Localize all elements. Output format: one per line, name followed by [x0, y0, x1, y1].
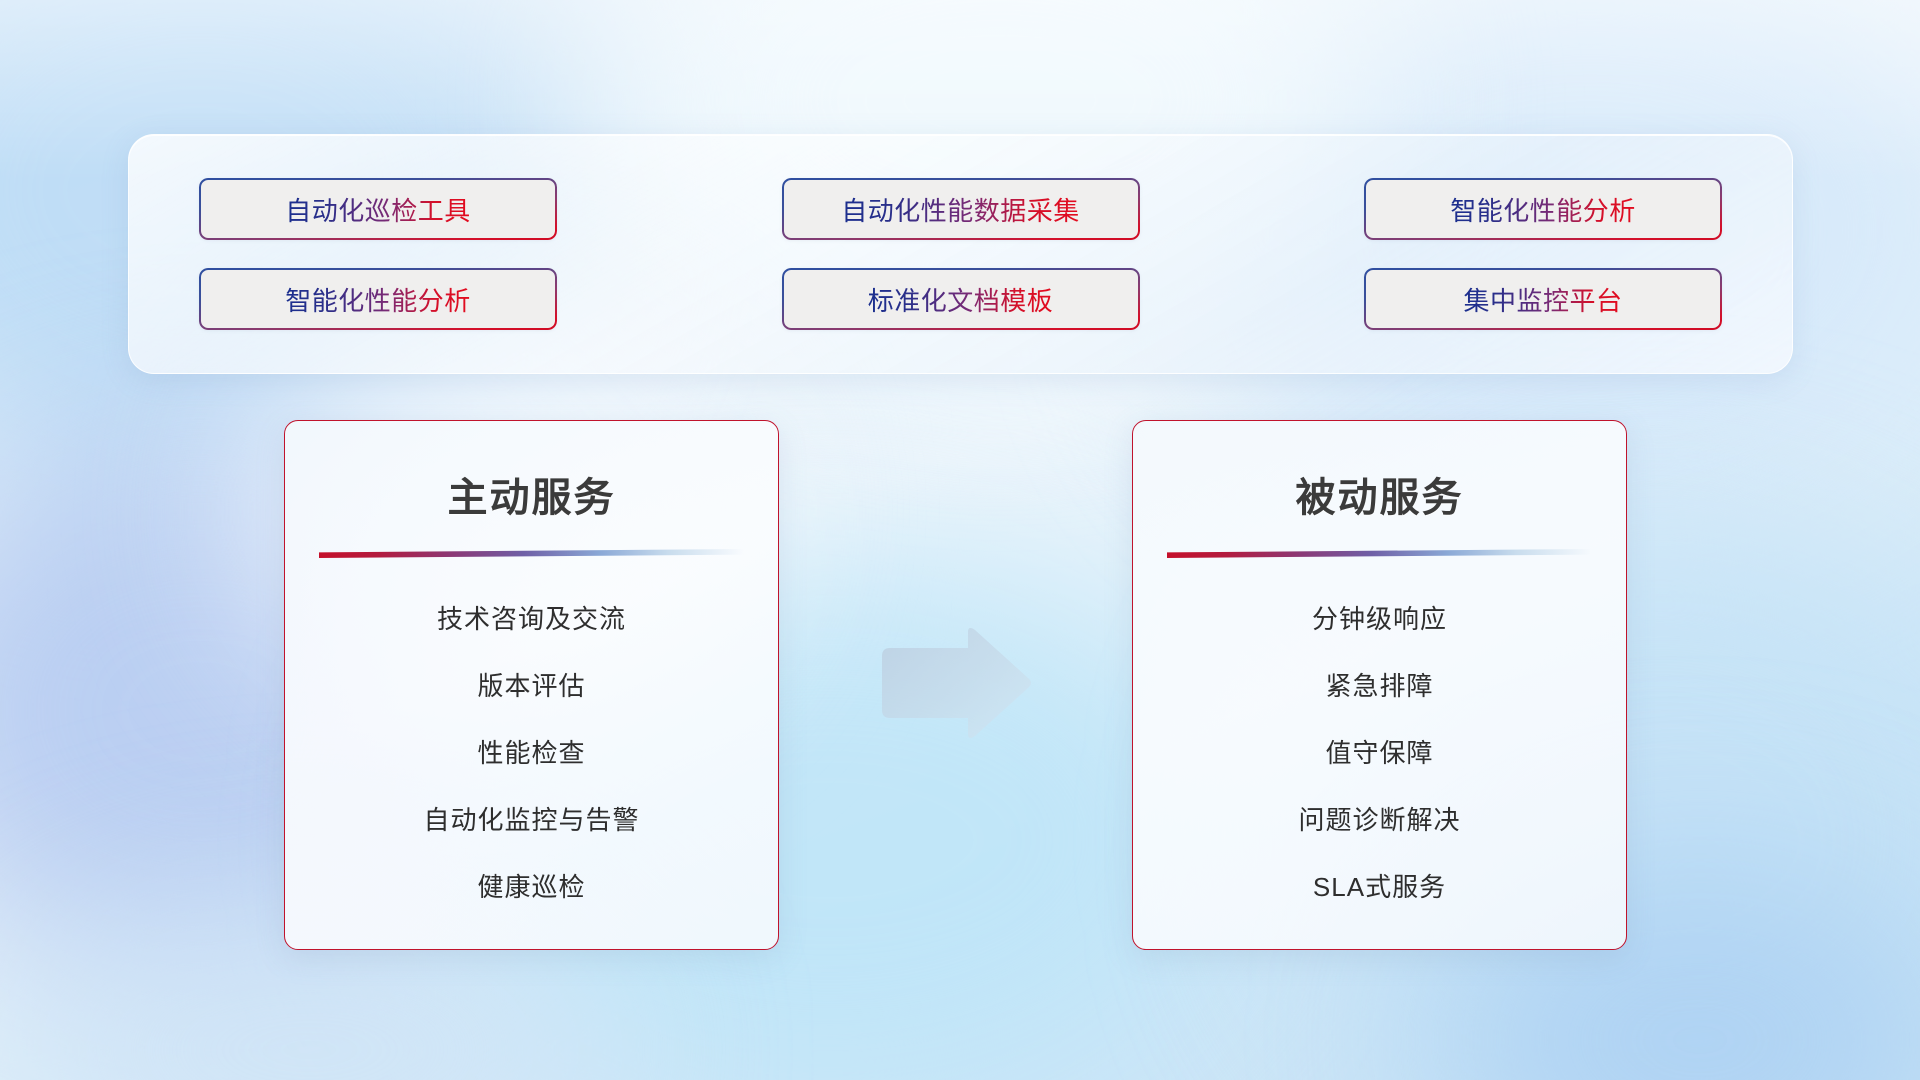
capability-pill-automated-inspection-tool[interactable]: 自动化巡检工具: [199, 178, 557, 240]
capability-row: 智能化性能分析 标准化文档模板 集中监控平台: [199, 268, 1722, 330]
list-item: 紧急排障: [1167, 651, 1592, 718]
capability-pill-automated-performance-data-collection[interactable]: 自动化性能数据采集: [782, 178, 1140, 240]
list-item: SLA式服务: [1167, 852, 1592, 919]
list-item: 分钟级响应: [1167, 584, 1592, 651]
capability-pill-centralized-monitoring-platform[interactable]: 集中监控平台: [1364, 268, 1722, 330]
list-item: 版本评估: [319, 651, 744, 718]
capability-pill-label: 自动化性能数据采集: [841, 191, 1080, 228]
list-item: 问题诊断解决: [1167, 785, 1592, 852]
capability-pill-intelligent-performance-analysis[interactable]: 智能化性能分析: [1364, 178, 1722, 240]
capability-pill-label: 标准化文档模板: [868, 281, 1054, 318]
active-service-list: 技术咨询及交流 版本评估 性能检查 自动化监控与告警 健康巡检: [319, 558, 744, 919]
capability-pill-label: 智能化性能分析: [1450, 191, 1636, 228]
capability-pill-label: 智能化性能分析: [285, 281, 471, 318]
capability-pill-standardized-document-template[interactable]: 标准化文档模板: [782, 268, 1140, 330]
active-service-card: 主动服务 技术咨询及交流 版本评估 性能检查 自动化监控与告警 健康巡检: [284, 420, 779, 950]
list-item: 健康巡检: [319, 852, 744, 919]
passive-service-card: 被动服务 分钟级响应 紧急排障 值守保障 问题诊断解决 SLA式服务: [1132, 420, 1627, 950]
passive-service-list: 分钟级响应 紧急排障 值守保障 问题诊断解决 SLA式服务: [1167, 558, 1592, 919]
list-item: 技术咨询及交流: [319, 584, 744, 651]
list-item: 值守保障: [1167, 718, 1592, 785]
active-service-title: 主动服务: [319, 465, 744, 523]
capability-pill-intelligent-performance-analysis-2[interactable]: 智能化性能分析: [199, 268, 557, 330]
active-service-divider: [319, 549, 744, 558]
list-item: 性能检查: [319, 718, 744, 785]
list-item: 自动化监控与告警: [319, 785, 744, 852]
capabilities-panel: 自动化巡检工具 自动化性能数据采集 智能化性能分析 智能化性能分析 标准化文档模…: [128, 134, 1793, 374]
capability-row: 自动化巡检工具 自动化性能数据采集 智能化性能分析: [199, 178, 1722, 240]
passive-service-title: 被动服务: [1167, 465, 1592, 523]
arrow-right-icon: [876, 628, 1034, 738]
capability-pill-label: 集中监控平台: [1463, 281, 1622, 318]
passive-service-divider: [1167, 549, 1592, 558]
capability-pill-label: 自动化巡检工具: [285, 191, 471, 228]
